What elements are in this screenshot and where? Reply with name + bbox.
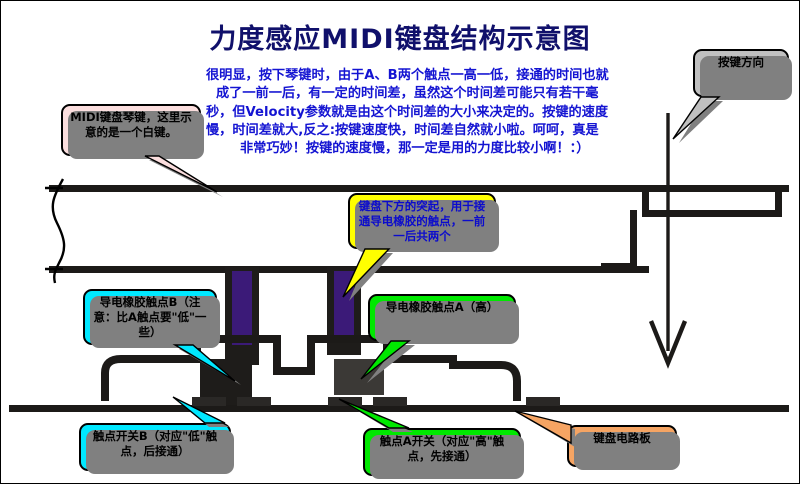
pcb-pad-2: [237, 397, 271, 406]
callout-contact-a-label: 导电橡胶触点A（高）: [375, 300, 509, 315]
callout-contact-b-label: 导电橡胶触点B（注意：比A触点要"低"一些）: [90, 295, 210, 340]
pcb-substrate: [9, 405, 789, 412]
key-right-lower-lip-end: [775, 185, 782, 213]
callout-switch-a-label: 触点A开关（对应"高"触点，先接通）: [370, 434, 514, 464]
callout-key-label: MIDI键盘琴键，这里示意的是一个白键。: [68, 110, 194, 140]
pcb-group: [9, 397, 789, 412]
press-direction-arrow: [651, 113, 685, 363]
callout-switch-b-label: 触点开关B（对应"低"触点，后接通）: [86, 429, 224, 459]
plunger-b-core: [232, 271, 252, 345]
rubber-dome-group: [105, 339, 517, 401]
callout-pcb-label: 键盘电路板: [574, 431, 670, 446]
callout-press-direction[interactable]: 按键方向: [693, 49, 789, 97]
key-top-surface: [49, 185, 789, 192]
callout-key[interactable]: MIDI键盘琴键，这里示意的是一个白键。: [61, 104, 201, 156]
callout-contact-b[interactable]: 导电橡胶触点B（注意：比A触点要"低"一些）: [83, 289, 217, 345]
pcb-pad-4: [373, 397, 407, 406]
contact-a-block: [334, 359, 384, 395]
key-underside-step-horizontal: [601, 263, 637, 270]
callout-pcb[interactable]: 键盘电路板: [567, 425, 677, 467]
callout-bump[interactable]: 键盘下方的突起，用于接通导电橡胶的触点，一前一后共两个: [348, 193, 496, 249]
callout-bump-label: 键盘下方的突起，用于接通导电橡胶的触点，一前一后共两个: [355, 199, 489, 244]
pcb-pad-3: [328, 397, 362, 406]
diagram-frame: 力度感应MIDI键盘结构示意图 很明显，按下琴键时，由于A、B两个触点一高一低，…: [0, 0, 800, 484]
diagram-stage: 力度感应MIDI键盘结构示意图 很明显，按下琴键时，由于A、B两个触点一高一低，…: [1, 1, 799, 483]
pcb-pad-5: [526, 397, 560, 406]
callout-press-direction-label: 按键方向: [700, 55, 782, 70]
key-underside-step-vertical: [630, 210, 637, 270]
callout-switch-a[interactable]: 触点A开关（对应"高"触点，先接通）: [363, 428, 521, 476]
key-plungers-group: [225, 267, 361, 365]
key-right-lower-lip: [642, 210, 782, 217]
pcb-pad-1: [192, 397, 226, 406]
callout-contact-a[interactable]: 导电橡胶触点A（高）: [368, 294, 516, 341]
plunger-a-core: [334, 271, 354, 337]
rubber-dome-outline: [105, 339, 517, 401]
callout-switch-b[interactable]: 触点开关B（对应"低"触点，后接通）: [79, 423, 231, 471]
